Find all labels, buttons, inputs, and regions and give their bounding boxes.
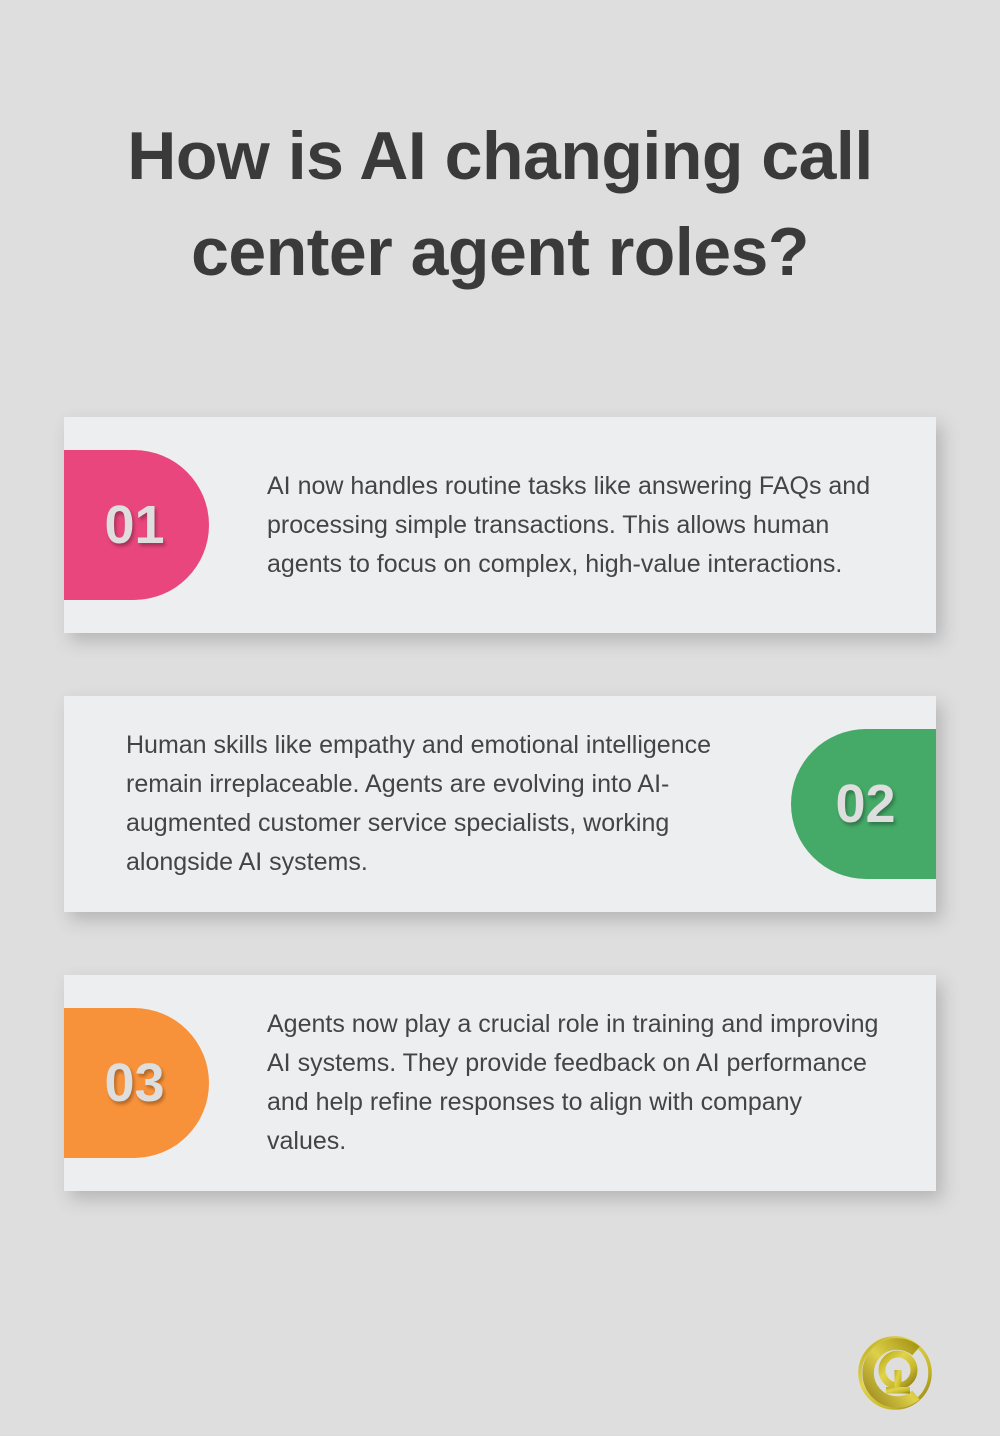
number-badge-1: 01: [64, 450, 209, 600]
page-title: How is AI changing call center agent rol…: [0, 108, 1000, 300]
number-badge-2: 02: [791, 729, 936, 879]
card-1-text: AI now handles routine tasks like answer…: [209, 467, 936, 584]
info-card-1: 01 AI now handles routine tasks like ans…: [64, 417, 936, 633]
badge-number-2: 02: [835, 777, 895, 831]
number-badge-3: 03: [64, 1008, 209, 1158]
badge-number-3: 03: [104, 1056, 164, 1110]
brand-logo: [856, 1334, 934, 1412]
card-2-inner: 02 Human skills like empathy and emotion…: [64, 696, 936, 912]
circular-q-logo-icon: [856, 1334, 934, 1412]
title-block: How is AI changing call center agent rol…: [0, 108, 1000, 300]
info-card-2: 02 Human skills like empathy and emotion…: [64, 696, 936, 912]
card-2-text: Human skills like empathy and emotional …: [64, 726, 791, 882]
card-1-inner: 01 AI now handles routine tasks like ans…: [64, 417, 936, 633]
badge-number-1: 01: [104, 498, 164, 552]
card-3-text: Agents now play a crucial role in traini…: [209, 1005, 936, 1161]
card-3-inner: 03 Agents now play a crucial role in tra…: [64, 975, 936, 1191]
info-card-3: 03 Agents now play a crucial role in tra…: [64, 975, 936, 1191]
